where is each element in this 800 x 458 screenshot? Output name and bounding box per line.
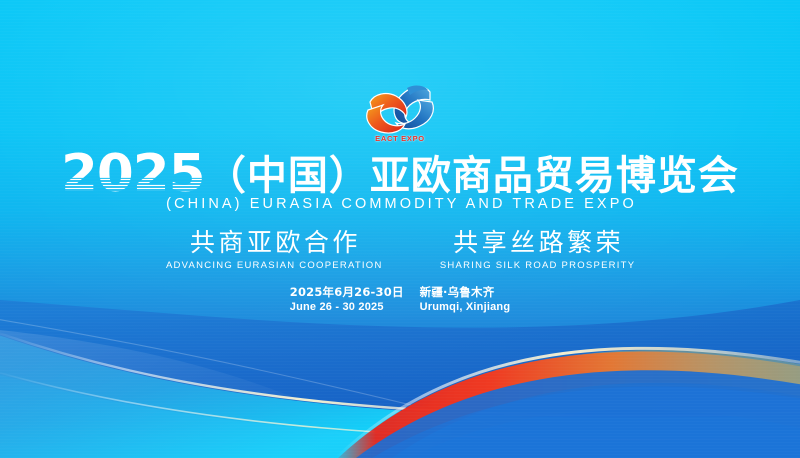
logo-mark: [352, 80, 448, 142]
event-place-english: Urumqi, Xinjiang: [420, 301, 511, 313]
logo-wordmark: EACT EXPO: [352, 134, 448, 143]
slogan-1-english: ADVANCING EURASIAN COOPERATION: [165, 260, 383, 271]
title-chinese: （中国）亚欧商品贸易博览会: [206, 154, 739, 198]
event-meta: 2025年6月26-30日 新疆·乌鲁木齐 June 26 - 30 2025 …: [0, 284, 800, 313]
event-place-chinese: 新疆·乌鲁木齐: [420, 284, 511, 300]
title-year: 202520252025: [61, 150, 205, 198]
slogan-1-chinese: 共商亚欧合作: [165, 228, 383, 257]
title-english: (CHINA) EURASIA COMMODITY AND TRADE EXPO: [0, 196, 800, 212]
event-date-english: June 26 - 30 2025: [290, 301, 404, 313]
slogan-2-chinese: 共享丝路繁荣: [439, 228, 636, 257]
event-date-chinese: 2025年6月26-30日: [290, 284, 404, 300]
expo-banner: EACT EXPO 202520252025 （中国）亚欧商品贸易博览会 (CH…: [0, 0, 800, 458]
slogan-2-english: SHARING SILK ROAD PROSPERITY: [439, 260, 636, 271]
main-title: 202520252025 （中国）亚欧商品贸易博览会: [0, 150, 800, 198]
logo-area: EACT EXPO: [0, 80, 800, 142]
banner-content: EACT EXPO 202520252025 （中国）亚欧商品贸易博览会 (CH…: [0, 0, 800, 458]
eact-expo-logo: EACT EXPO: [352, 80, 448, 142]
slogan-2: 共享丝路繁荣 SHARING SILK ROAD PROSPERITY: [439, 228, 636, 271]
slogan-row: 共商亚欧合作 ADVANCING EURASIAN COOPERATION 共享…: [0, 228, 800, 271]
slogan-1: 共商亚欧合作 ADVANCING EURASIAN COOPERATION: [165, 228, 383, 271]
